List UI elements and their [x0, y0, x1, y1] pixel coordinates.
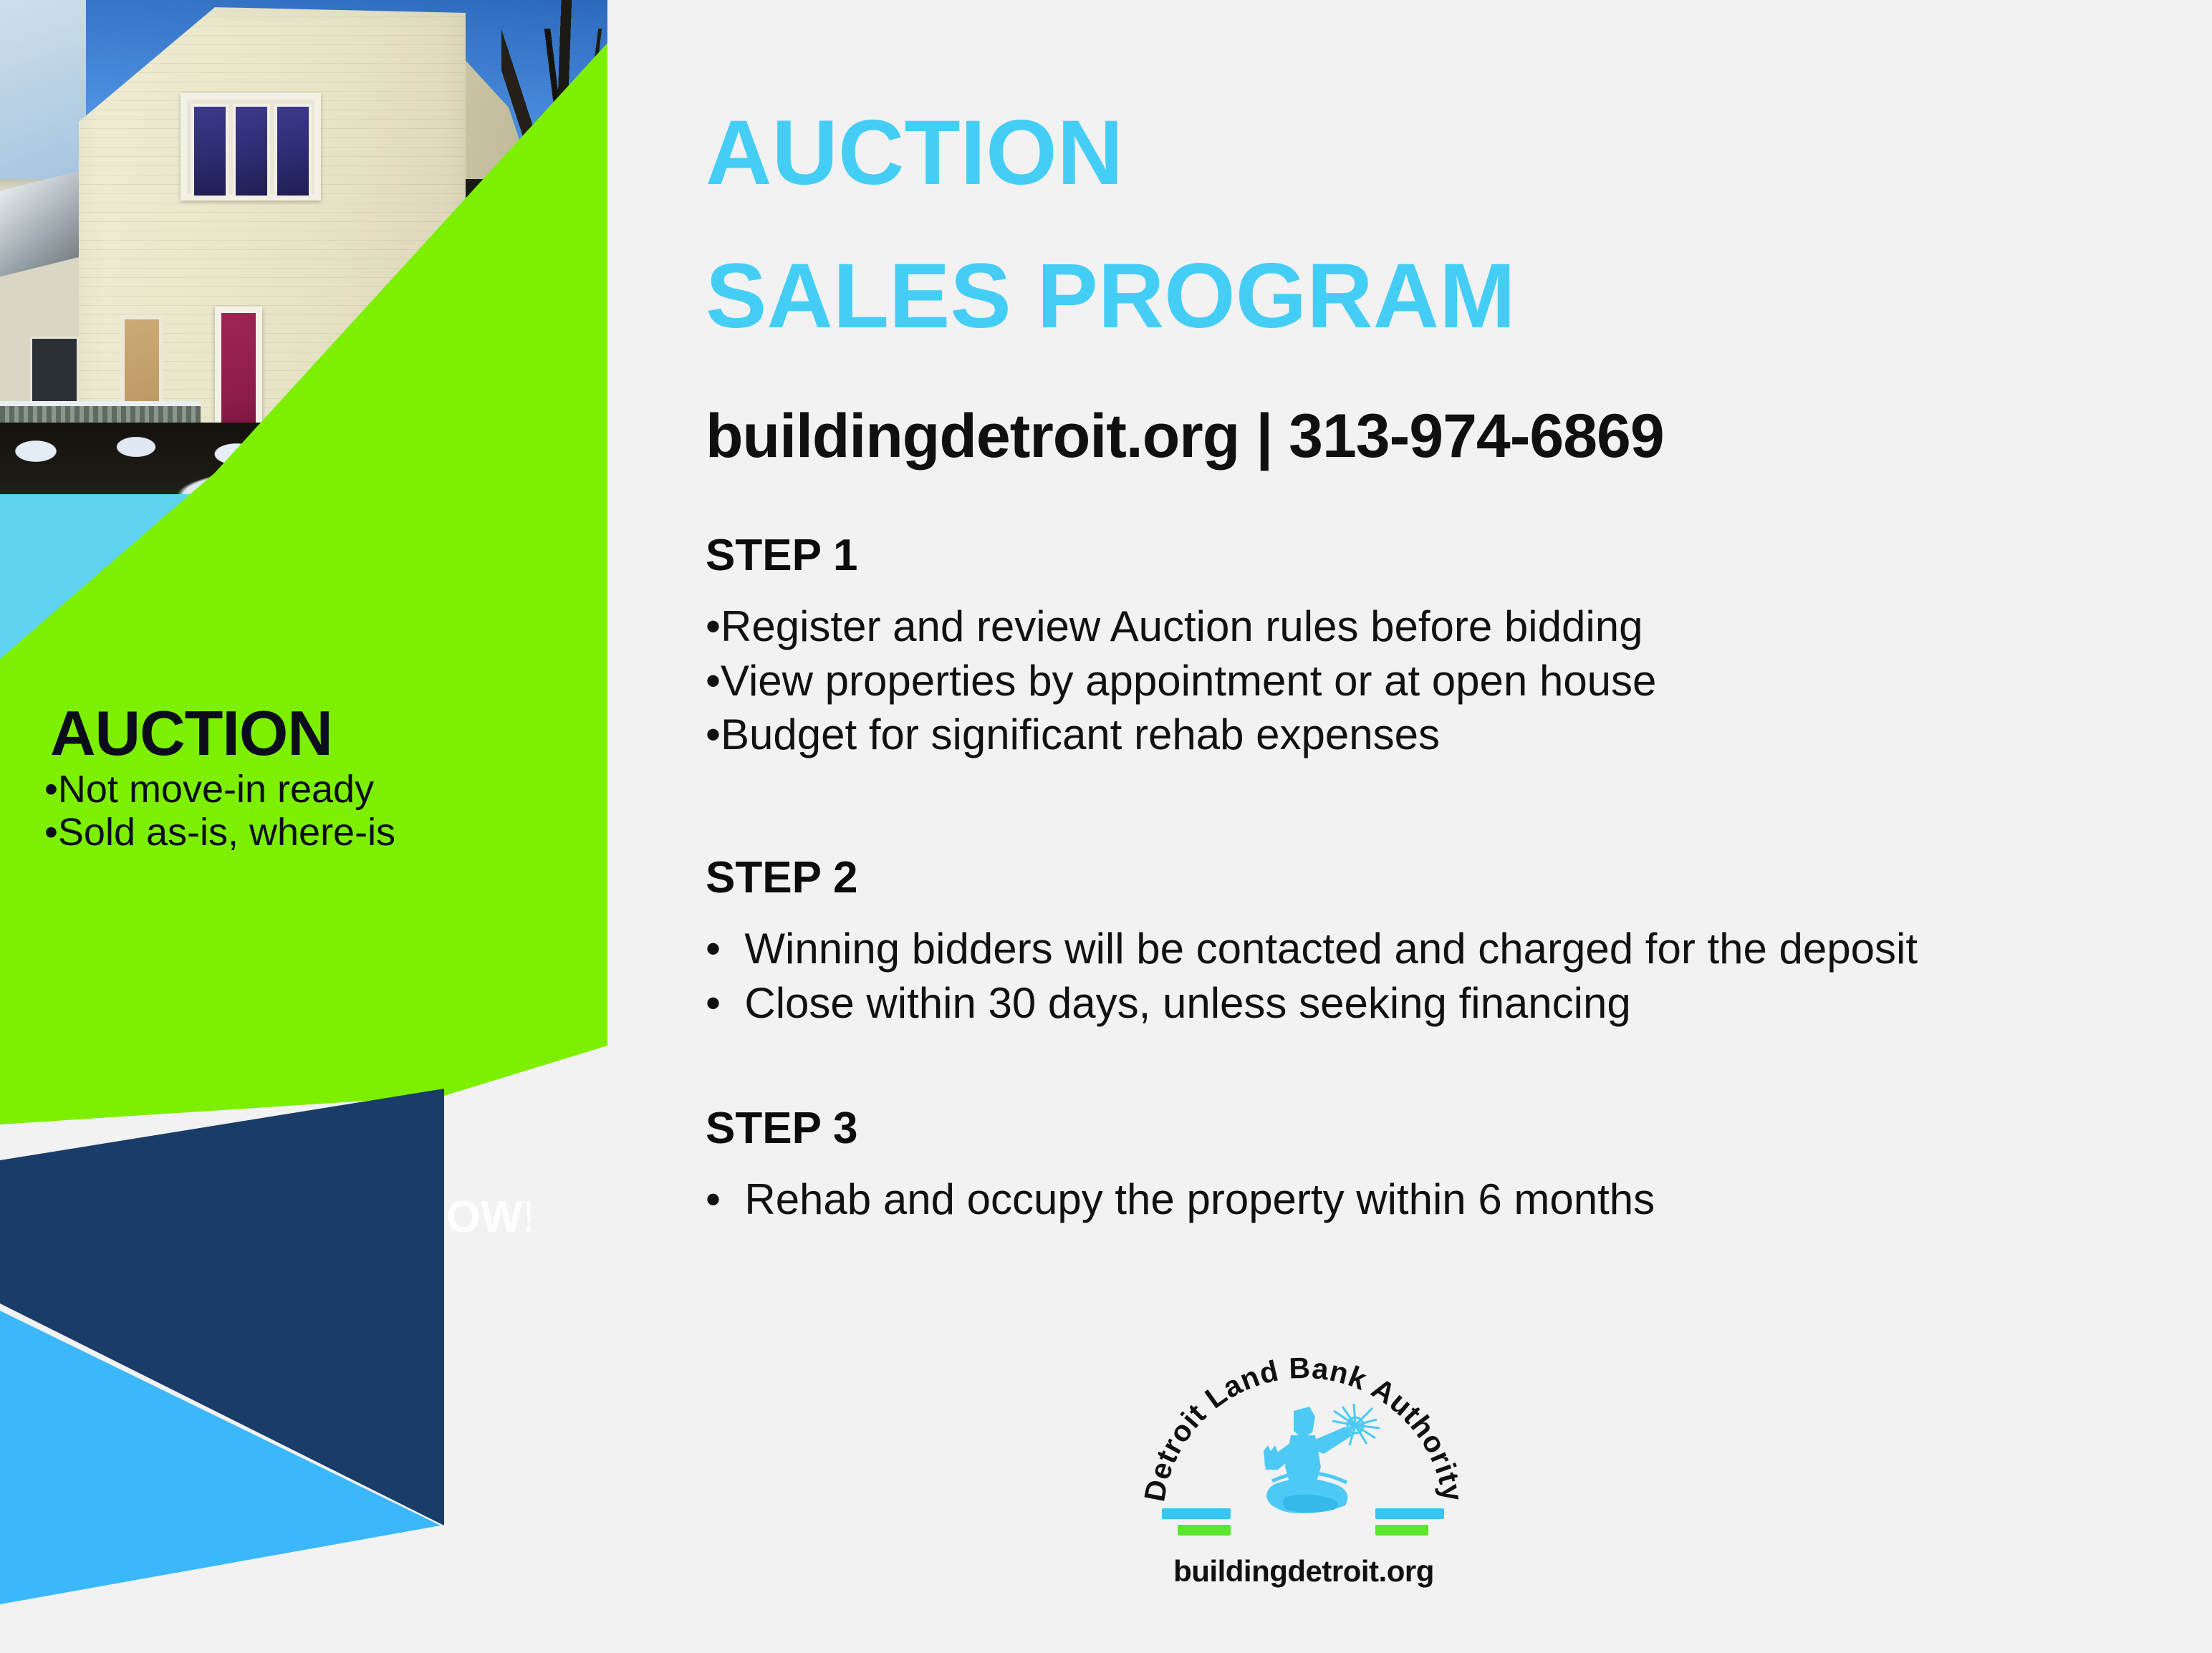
green-panel-text: AUCTION •Not move-in ready •Sold as-is, … [0, 702, 516, 854]
list-item-label: Winning bidders will be contacted and ch… [744, 925, 1918, 973]
list-item: •Not move-in ready [44, 768, 516, 811]
logo-dash-cyan [1162, 1508, 1231, 1519]
logo-dash-green [1178, 1525, 1231, 1536]
logo-dash-left [1162, 1508, 1231, 1536]
step-2-heading: STEP 2 [706, 852, 2138, 903]
step-block-3: STEP 3 • Rehab and occupy the property w… [706, 1103, 2138, 1227]
bullet-glyph: • [706, 979, 721, 1027]
list-item-label: Close within 30 days, unless seeking fin… [744, 979, 1630, 1027]
step-block-1: STEP 1 •Register and review Auction rule… [706, 530, 2138, 762]
flyer-canvas: AUCTION •Not move-in ready •Sold as-is, … [0, 0, 2212, 1653]
step-2-bullet-list: • Winning bidders will be contacted and … [706, 922, 2138, 1030]
photo-upper-window [181, 93, 321, 201]
logo-dash-right [1375, 1508, 1444, 1536]
cutoff-now-text: NOW! [444, 1197, 530, 1255]
list-item: • Close within 30 days, unless seeking f… [706, 976, 2138, 1031]
step-1-heading: STEP 1 [706, 530, 2138, 581]
list-item-label: Register and review Auction rules before… [721, 602, 1643, 650]
step-3-bullet-list: • Rehab and occupy the property within 6… [706, 1172, 2138, 1227]
spirit-of-detroit-icon [1219, 1398, 1391, 1541]
bullet-glyph: • [706, 1175, 721, 1223]
bullet-glyph: • [706, 925, 721, 973]
list-item-label: Rehab and occupy the property within 6 m… [744, 1175, 1655, 1223]
bullet-glyph: • [706, 657, 721, 705]
photo-window-pane [274, 104, 312, 198]
list-item: •Budget for significant rehab expenses [706, 708, 2138, 762]
page-title-line-2: SALES PROGRAM [706, 251, 1516, 342]
bullet-glyph: • [706, 602, 721, 650]
bullet-glyph: • [44, 768, 58, 811]
green-panel-bullet-list: •Not move-in ready •Sold as-is, where-is [0, 768, 516, 854]
photo-window-pane [191, 104, 229, 198]
step-1-bullet-list: •Register and review Auction rules befor… [706, 599, 2138, 762]
list-item-label: Budget for significant rehab expenses [721, 710, 1440, 758]
list-item: • Winning bidders will be contacted and … [706, 922, 2138, 976]
list-item-label: Sold as-is, where-is [58, 811, 395, 854]
step-block-2: STEP 2 • Winning bidders will be contact… [706, 852, 2138, 1030]
list-item: •Sold as-is, where-is [44, 811, 516, 854]
list-item: •Register and review Auction rules befor… [706, 599, 2138, 654]
logo-dash-green [1375, 1525, 1428, 1536]
logo-url-label: buildingdetroit.org [1139, 1554, 1468, 1589]
list-item-label: Not move-in ready [58, 768, 374, 811]
left-graphic-column: AUCTION •Not move-in ready •Sold as-is, … [0, 0, 616, 1653]
page-title-line-1: AUCTION [706, 107, 1123, 199]
list-item: •View properties by appointment or at op… [706, 654, 2138, 708]
photo-window-pane [233, 104, 270, 198]
detroit-land-bank-logo: Detroit Land Bank Authority [1139, 1339, 1468, 1597]
logo-dash-cyan [1375, 1508, 1444, 1519]
contact-line: buildingdetroit.org | 313-974-6869 [706, 401, 1664, 472]
step-3-heading: STEP 3 [706, 1103, 2138, 1154]
list-item: • Rehab and occupy the property within 6… [706, 1172, 2138, 1227]
bullet-glyph: • [706, 710, 721, 758]
cutoff-now-label: NOW! [444, 1197, 530, 1243]
list-item-label: View properties by appointment or at ope… [721, 657, 1656, 705]
bullet-glyph: • [44, 811, 58, 854]
green-panel-heading: AUCTION [50, 702, 516, 765]
